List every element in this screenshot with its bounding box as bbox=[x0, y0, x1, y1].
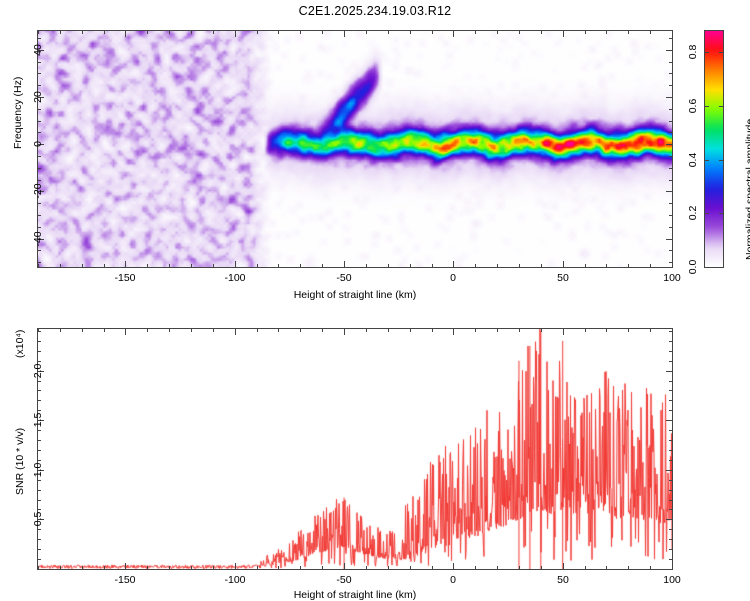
x-major-tick bbox=[563, 329, 564, 335]
x-minor-tick bbox=[300, 31, 301, 34]
y-minor-tick bbox=[669, 121, 672, 122]
x-minor-tick bbox=[628, 566, 629, 569]
x-major-tick bbox=[125, 31, 126, 37]
x-minor-tick bbox=[82, 329, 83, 332]
y-minor-tick bbox=[38, 361, 41, 362]
x-minor-tick bbox=[475, 31, 476, 34]
x-minor-tick bbox=[147, 31, 148, 34]
y-minor-tick bbox=[669, 539, 672, 540]
x-minor-tick bbox=[388, 264, 389, 267]
x-major-tick bbox=[672, 31, 673, 37]
y-minor-tick bbox=[38, 549, 41, 550]
x-minor-tick bbox=[497, 566, 498, 569]
y-minor-tick bbox=[669, 132, 672, 133]
y-minor-tick bbox=[38, 156, 41, 157]
y-major-tick bbox=[666, 97, 672, 98]
x-minor-tick bbox=[606, 329, 607, 332]
x-major-tick bbox=[563, 261, 564, 267]
x-tick-label: -100 bbox=[224, 272, 245, 284]
x-minor-tick bbox=[475, 566, 476, 569]
x-tick-label: 100 bbox=[663, 272, 681, 284]
y-minor-tick bbox=[669, 215, 672, 216]
colorbar-tick-label: 0.2 bbox=[687, 206, 699, 221]
x-minor-tick bbox=[191, 31, 192, 34]
spectrogram-x-axis-title: Height of straight line (km) bbox=[294, 289, 417, 301]
x-minor-tick bbox=[278, 31, 279, 34]
y-minor-tick bbox=[669, 250, 672, 251]
y-minor-tick bbox=[669, 490, 672, 491]
x-minor-tick bbox=[38, 31, 39, 34]
x-tick-label: -150 bbox=[114, 574, 135, 586]
y-minor-tick bbox=[669, 460, 672, 461]
x-minor-tick bbox=[410, 566, 411, 569]
x-minor-tick bbox=[519, 329, 520, 332]
y-minor-tick bbox=[38, 168, 41, 169]
snr-y-axis-title: SNR (10 * v/v) bbox=[14, 428, 26, 495]
x-minor-tick bbox=[388, 329, 389, 332]
y-minor-tick bbox=[38, 109, 41, 110]
y-minor-tick bbox=[669, 203, 672, 204]
y-tick-label: 0 bbox=[32, 141, 44, 147]
y-major-tick bbox=[666, 191, 672, 192]
snr-y-exponent-label: (x10⁴) bbox=[14, 330, 26, 358]
y-major-tick bbox=[666, 371, 672, 372]
y-major-tick bbox=[666, 50, 672, 51]
y-minor-tick bbox=[38, 390, 41, 391]
x-major-tick bbox=[344, 329, 345, 335]
x-minor-tick bbox=[366, 31, 367, 34]
x-minor-tick bbox=[104, 329, 105, 332]
colorbar-tick bbox=[704, 52, 709, 53]
y-minor-tick bbox=[38, 410, 41, 411]
y-minor-tick bbox=[669, 480, 672, 481]
colorbar-tick bbox=[719, 160, 724, 161]
y-minor-tick bbox=[38, 539, 41, 540]
y-minor-tick bbox=[38, 480, 41, 481]
spectrogram-panel bbox=[37, 30, 673, 268]
colorbar-tick bbox=[719, 52, 724, 53]
x-minor-tick bbox=[541, 566, 542, 569]
x-minor-tick bbox=[366, 566, 367, 569]
y-minor-tick bbox=[38, 559, 41, 560]
x-minor-tick bbox=[82, 31, 83, 34]
x-major-tick bbox=[563, 31, 564, 37]
y-tick-label: 1.0 bbox=[32, 463, 44, 478]
x-tick-label: 0 bbox=[450, 574, 456, 586]
snr-panel bbox=[37, 328, 673, 570]
x-minor-tick bbox=[300, 329, 301, 332]
x-minor-tick bbox=[432, 31, 433, 34]
x-major-tick bbox=[125, 329, 126, 335]
x-minor-tick bbox=[300, 264, 301, 267]
y-major-tick bbox=[666, 470, 672, 471]
y-minor-tick bbox=[669, 341, 672, 342]
x-minor-tick bbox=[475, 264, 476, 267]
y-minor-tick bbox=[38, 529, 41, 530]
x-minor-tick bbox=[257, 566, 258, 569]
x-minor-tick bbox=[147, 329, 148, 332]
x-minor-tick bbox=[585, 31, 586, 34]
x-minor-tick bbox=[300, 566, 301, 569]
x-minor-tick bbox=[432, 566, 433, 569]
x-minor-tick bbox=[169, 329, 170, 332]
x-minor-tick bbox=[650, 31, 651, 34]
y-tick-label: -40 bbox=[32, 231, 44, 246]
x-major-tick bbox=[563, 563, 564, 569]
y-minor-tick bbox=[669, 430, 672, 431]
y-minor-tick bbox=[669, 450, 672, 451]
x-minor-tick bbox=[147, 566, 148, 569]
y-major-tick bbox=[666, 144, 672, 145]
y-minor-tick bbox=[669, 38, 672, 39]
y-minor-tick bbox=[38, 450, 41, 451]
x-minor-tick bbox=[497, 264, 498, 267]
spectrogram-y-axis-title: Frequency (Hz) bbox=[12, 77, 24, 149]
x-minor-tick bbox=[606, 264, 607, 267]
x-minor-tick bbox=[541, 329, 542, 332]
y-minor-tick bbox=[38, 85, 41, 86]
colorbar-tick bbox=[719, 267, 724, 268]
x-minor-tick bbox=[322, 31, 323, 34]
x-minor-tick bbox=[519, 566, 520, 569]
x-minor-tick bbox=[257, 264, 258, 267]
y-minor-tick bbox=[669, 227, 672, 228]
x-minor-tick bbox=[169, 264, 170, 267]
y-minor-tick bbox=[38, 250, 41, 251]
x-minor-tick bbox=[388, 566, 389, 569]
y-minor-tick bbox=[669, 440, 672, 441]
snr-trace bbox=[38, 329, 672, 569]
x-minor-tick bbox=[366, 264, 367, 267]
colorbar-tick bbox=[719, 106, 724, 107]
y-tick-label: -20 bbox=[32, 183, 44, 198]
snr-x-axis-title: Height of straight line (km) bbox=[294, 589, 417, 601]
y-minor-tick bbox=[669, 62, 672, 63]
x-minor-tick bbox=[322, 566, 323, 569]
y-minor-tick bbox=[669, 168, 672, 169]
y-minor-tick bbox=[38, 73, 41, 74]
x-minor-tick bbox=[82, 264, 83, 267]
x-minor-tick bbox=[585, 329, 586, 332]
colorbar-tick bbox=[704, 160, 709, 161]
x-minor-tick bbox=[497, 31, 498, 34]
y-minor-tick bbox=[669, 180, 672, 181]
y-minor-tick bbox=[38, 38, 41, 39]
x-minor-tick bbox=[519, 264, 520, 267]
y-minor-tick bbox=[38, 400, 41, 401]
x-major-tick bbox=[235, 261, 236, 267]
x-tick-label: 50 bbox=[557, 574, 569, 586]
x-major-tick bbox=[235, 31, 236, 37]
x-minor-tick bbox=[191, 566, 192, 569]
x-minor-tick bbox=[104, 566, 105, 569]
y-tick-label: 1.5 bbox=[32, 413, 44, 428]
y-major-tick bbox=[666, 519, 672, 520]
y-minor-tick bbox=[669, 400, 672, 401]
x-minor-tick bbox=[191, 264, 192, 267]
spectrogram-image bbox=[38, 31, 672, 267]
colorbar-tick bbox=[704, 213, 709, 214]
x-minor-tick bbox=[60, 31, 61, 34]
x-tick-label: 0 bbox=[450, 272, 456, 284]
y-minor-tick bbox=[38, 180, 41, 181]
x-major-tick bbox=[344, 563, 345, 569]
x-minor-tick bbox=[650, 566, 651, 569]
x-minor-tick bbox=[410, 31, 411, 34]
y-tick-label: 20 bbox=[32, 91, 44, 103]
x-tick-label: -100 bbox=[224, 574, 245, 586]
x-minor-tick bbox=[322, 329, 323, 332]
x-minor-tick bbox=[432, 264, 433, 267]
x-minor-tick bbox=[606, 566, 607, 569]
x-minor-tick bbox=[650, 264, 651, 267]
y-minor-tick bbox=[669, 390, 672, 391]
y-tick-label: 2.0 bbox=[32, 364, 44, 379]
x-minor-tick bbox=[278, 329, 279, 332]
colorbar-tick bbox=[704, 267, 709, 268]
x-minor-tick bbox=[213, 264, 214, 267]
y-minor-tick bbox=[38, 203, 41, 204]
x-minor-tick bbox=[475, 329, 476, 332]
colorbar-tick-label: 0.8 bbox=[687, 45, 699, 60]
x-minor-tick bbox=[191, 329, 192, 332]
x-major-tick bbox=[235, 329, 236, 335]
y-minor-tick bbox=[669, 569, 672, 570]
y-minor-tick bbox=[38, 331, 41, 332]
x-minor-tick bbox=[169, 31, 170, 34]
y-minor-tick bbox=[38, 460, 41, 461]
x-major-tick bbox=[125, 563, 126, 569]
x-minor-tick bbox=[60, 566, 61, 569]
x-minor-tick bbox=[541, 31, 542, 34]
y-minor-tick bbox=[669, 331, 672, 332]
figure-root: C2E1.2025.234.19.03.R12 -150-100-5005010… bbox=[0, 0, 750, 600]
y-minor-tick bbox=[669, 410, 672, 411]
x-major-tick bbox=[672, 329, 673, 335]
x-tick-label: 100 bbox=[663, 574, 681, 586]
x-major-tick bbox=[235, 563, 236, 569]
colorbar-gradient bbox=[705, 31, 723, 267]
x-major-tick bbox=[672, 563, 673, 569]
y-minor-tick bbox=[38, 262, 41, 263]
x-minor-tick bbox=[606, 31, 607, 34]
y-minor-tick bbox=[669, 529, 672, 530]
x-major-tick bbox=[344, 31, 345, 37]
x-major-tick bbox=[125, 261, 126, 267]
x-major-tick bbox=[672, 261, 673, 267]
y-minor-tick bbox=[669, 351, 672, 352]
x-minor-tick bbox=[322, 264, 323, 267]
y-minor-tick bbox=[38, 341, 41, 342]
y-minor-tick bbox=[38, 62, 41, 63]
x-minor-tick bbox=[497, 329, 498, 332]
page-title: C2E1.2025.234.19.03.R12 bbox=[0, 4, 750, 18]
x-tick-label: -150 bbox=[114, 272, 135, 284]
y-minor-tick bbox=[669, 381, 672, 382]
x-major-tick bbox=[453, 329, 454, 335]
y-minor-tick bbox=[38, 381, 41, 382]
x-minor-tick bbox=[278, 566, 279, 569]
y-major-tick bbox=[666, 239, 672, 240]
y-minor-tick bbox=[669, 500, 672, 501]
x-minor-tick bbox=[388, 31, 389, 34]
x-minor-tick bbox=[541, 264, 542, 267]
y-minor-tick bbox=[38, 132, 41, 133]
y-minor-tick bbox=[669, 509, 672, 510]
y-minor-tick bbox=[38, 215, 41, 216]
y-minor-tick bbox=[669, 262, 672, 263]
x-major-tick bbox=[453, 31, 454, 37]
x-minor-tick bbox=[213, 31, 214, 34]
x-major-tick bbox=[344, 261, 345, 267]
x-tick-label: -50 bbox=[336, 574, 351, 586]
y-minor-tick bbox=[38, 121, 41, 122]
x-minor-tick bbox=[257, 329, 258, 332]
y-minor-tick bbox=[669, 85, 672, 86]
x-minor-tick bbox=[147, 264, 148, 267]
y-minor-tick bbox=[38, 351, 41, 352]
y-minor-tick bbox=[669, 156, 672, 157]
x-minor-tick bbox=[628, 31, 629, 34]
x-minor-tick bbox=[213, 566, 214, 569]
colorbar-title: Normalized spectral amplitude bbox=[744, 119, 750, 260]
x-minor-tick bbox=[60, 329, 61, 332]
x-minor-tick bbox=[60, 264, 61, 267]
colorbar-tick bbox=[704, 106, 709, 107]
x-minor-tick bbox=[628, 329, 629, 332]
colorbar-tick-label: 0.6 bbox=[687, 99, 699, 114]
x-minor-tick bbox=[432, 329, 433, 332]
y-minor-tick bbox=[669, 361, 672, 362]
y-minor-tick bbox=[669, 73, 672, 74]
y-minor-tick bbox=[38, 440, 41, 441]
x-minor-tick bbox=[628, 264, 629, 267]
x-minor-tick bbox=[519, 31, 520, 34]
colorbar-tick-label: 0.4 bbox=[687, 153, 699, 168]
x-minor-tick bbox=[213, 329, 214, 332]
y-minor-tick bbox=[38, 509, 41, 510]
colorbar-tick-label: 0.0 bbox=[687, 260, 699, 275]
y-tick-label: 40 bbox=[32, 44, 44, 56]
y-minor-tick bbox=[38, 227, 41, 228]
y-tick-label: 0.5 bbox=[32, 512, 44, 527]
y-minor-tick bbox=[38, 490, 41, 491]
x-tick-label: 50 bbox=[557, 272, 569, 284]
y-major-tick bbox=[666, 420, 672, 421]
x-minor-tick bbox=[278, 264, 279, 267]
x-major-tick bbox=[453, 261, 454, 267]
x-minor-tick bbox=[366, 329, 367, 332]
x-major-tick bbox=[453, 563, 454, 569]
y-minor-tick bbox=[38, 500, 41, 501]
x-minor-tick bbox=[104, 264, 105, 267]
x-minor-tick bbox=[169, 566, 170, 569]
x-minor-tick bbox=[585, 264, 586, 267]
x-minor-tick bbox=[410, 264, 411, 267]
y-minor-tick bbox=[669, 109, 672, 110]
y-minor-tick bbox=[38, 430, 41, 431]
x-tick-label: -50 bbox=[336, 272, 351, 284]
x-minor-tick bbox=[257, 31, 258, 34]
x-minor-tick bbox=[650, 329, 651, 332]
x-minor-tick bbox=[410, 329, 411, 332]
y-minor-tick bbox=[669, 549, 672, 550]
colorbar bbox=[704, 30, 724, 268]
y-minor-tick bbox=[669, 559, 672, 560]
colorbar-tick bbox=[719, 213, 724, 214]
x-minor-tick bbox=[585, 566, 586, 569]
x-minor-tick bbox=[104, 31, 105, 34]
x-minor-tick bbox=[38, 264, 39, 267]
x-minor-tick bbox=[82, 566, 83, 569]
y-minor-tick bbox=[38, 569, 41, 570]
